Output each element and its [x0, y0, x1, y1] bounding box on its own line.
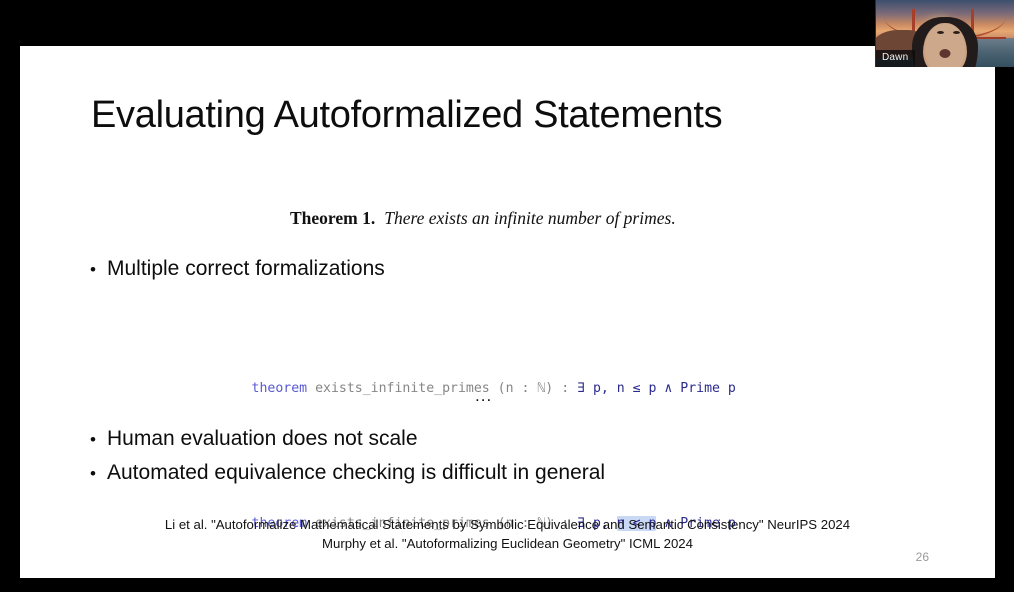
presentation-slide: Evaluating Autoformalized Statements The…: [20, 46, 995, 578]
bullet-item-automated-equivalence: • Automated equivalence checking is diff…: [90, 461, 605, 485]
slide-page-number: 26: [916, 550, 929, 564]
bullet-label: Multiple correct formalizations: [107, 257, 385, 281]
citation-line: Murphy et al. "Autoformalizing Euclidean…: [20, 534, 995, 553]
bullet-dot-icon: •: [90, 431, 107, 448]
participant-name-label: Dawn: [876, 50, 915, 67]
bullet-label: Human evaluation does not scale: [107, 427, 418, 451]
citation-line: Li et al. "Autoformalize Mathematical St…: [20, 515, 995, 534]
code-body: ∃ p, n ≤ p ∧ Prime p: [577, 381, 736, 396]
code-signature: (n : ℕ) :: [490, 381, 577, 396]
theorem-block: Theorem 1.There exists an infinite numbe…: [290, 208, 676, 229]
code-ellipsis: ...: [475, 386, 492, 406]
page-title: Evaluating Autoformalized Statements: [91, 94, 722, 137]
participant-mouth: [940, 49, 951, 58]
code-identifier: exists_infinite_primes: [315, 381, 490, 396]
theorem-label: Theorem 1.: [290, 208, 375, 228]
webcam-thumbnail[interactable]: Dawn: [875, 0, 1014, 67]
bullet-dot-icon: •: [90, 465, 107, 482]
bullet-label: Automated equivalence checking is diffic…: [107, 461, 605, 485]
bullet-dot-icon: •: [90, 261, 107, 278]
citation-block: Li et al. "Autoformalize Mathematical St…: [20, 515, 995, 553]
code-line: theorem exists_infinite_primes (n : ℕ) :…: [188, 348, 815, 429]
bullet-item-multiple-formalizations: • Multiple correct formalizations: [90, 257, 385, 281]
bullet-item-human-evaluation: • Human evaluation does not scale: [90, 427, 418, 451]
screen-share-stage: Evaluating Autoformalized Statements The…: [0, 0, 1014, 592]
code-keyword: theorem: [252, 381, 308, 396]
theorem-statement: There exists an infinite number of prime…: [384, 208, 675, 228]
